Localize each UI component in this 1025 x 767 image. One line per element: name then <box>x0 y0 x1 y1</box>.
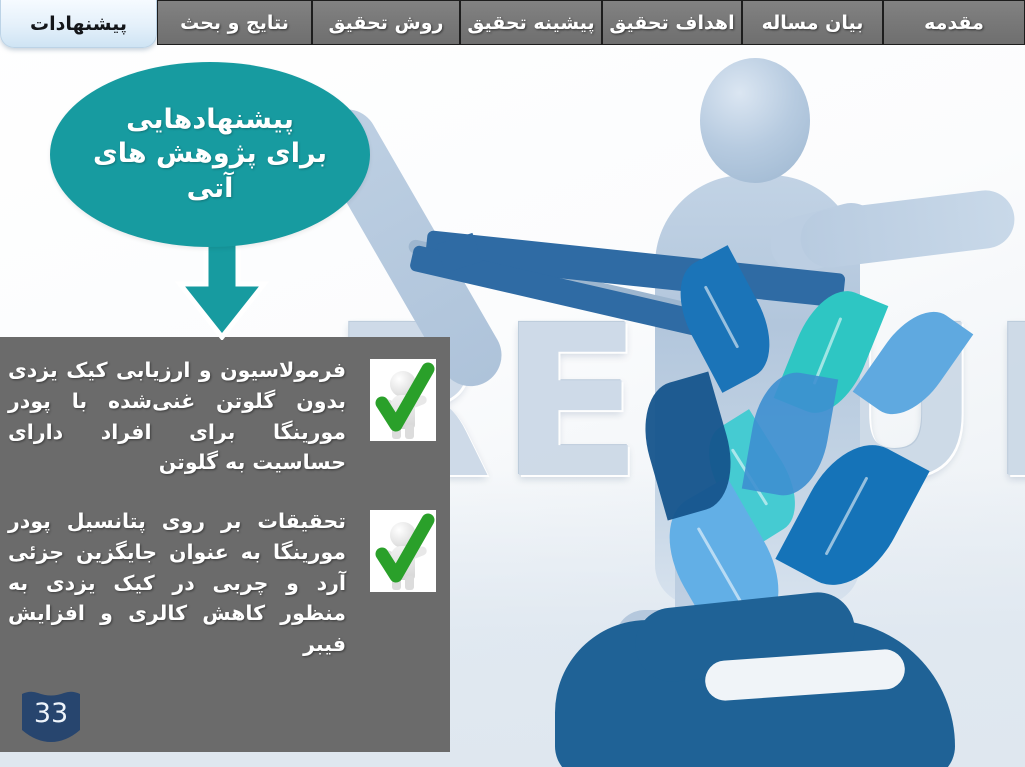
navigation-tab-bar: پیشنهادات نتایج و بحث روش تحقیق پیشینه ت… <box>0 0 1025 48</box>
tab-label: پیشینه تحقیق <box>467 12 594 34</box>
callout-text: پیشنهادهایی برای پژوهش های آتی <box>67 103 353 207</box>
tab-label: بیان مساله <box>762 12 864 34</box>
tab-pishine-tahghigh[interactable]: پیشینه تحقیق <box>460 0 602 45</box>
list-item: تحقیقات بر روی پتانسیل پودر مورینگا به ع… <box>8 506 436 660</box>
list-item-text: فرمولاسیون و ارزیابی کیک یزدی بدون گلوتن… <box>8 355 360 478</box>
list-item: فرمولاسیون و ارزیابی کیک یزدی بدون گلوتن… <box>8 355 436 478</box>
suggestions-panel: فرمولاسیون و ارزیابی کیک یزدی بدون گلوتن… <box>0 337 450 752</box>
green-check-figure-icon <box>370 359 436 441</box>
tab-moghaddame[interactable]: مقدمه <box>883 0 1025 45</box>
list-item-text: تحقیقات بر روی پتانسیل پودر مورینگا به ع… <box>8 506 360 660</box>
tab-label: اهداف تحقیق <box>609 12 734 34</box>
tab-label: روش تحقیق <box>329 12 444 34</box>
tab-label: نتایج و بحث <box>180 12 289 34</box>
tab-ahdaf-tahghigh[interactable]: اهداف تحقیق <box>602 0 742 45</box>
check-mark-icon <box>370 510 436 592</box>
tab-pishnahadat[interactable]: پیشنهادات <box>0 0 157 48</box>
presentation-slide: RESULTS پیشنهادات نتایج و بحث روش تحقیق <box>0 0 1025 767</box>
tab-label: پیشنهادات <box>30 13 127 35</box>
slide-number: 33 <box>22 690 80 742</box>
check-mark-icon <box>370 359 436 441</box>
slide-number-badge: 33 <box>22 690 80 742</box>
tab-bayan-masale[interactable]: بیان مساله <box>742 0 883 45</box>
green-check-figure-icon <box>370 510 436 592</box>
callout-line-2: برای پژوهش های <box>93 137 327 172</box>
callout-line-3: آتی <box>93 172 327 207</box>
callout-line-1: پیشنهادهایی <box>93 103 327 138</box>
title-callout-oval: پیشنهادهایی برای پژوهش های آتی <box>50 62 370 247</box>
background-figure-head <box>700 58 810 183</box>
tab-ravesh-tahghigh[interactable]: روش تحقیق <box>312 0 460 45</box>
tab-label: مقدمه <box>924 12 984 34</box>
tab-nataej-va-bahs[interactable]: نتایج و بحث <box>157 0 312 45</box>
